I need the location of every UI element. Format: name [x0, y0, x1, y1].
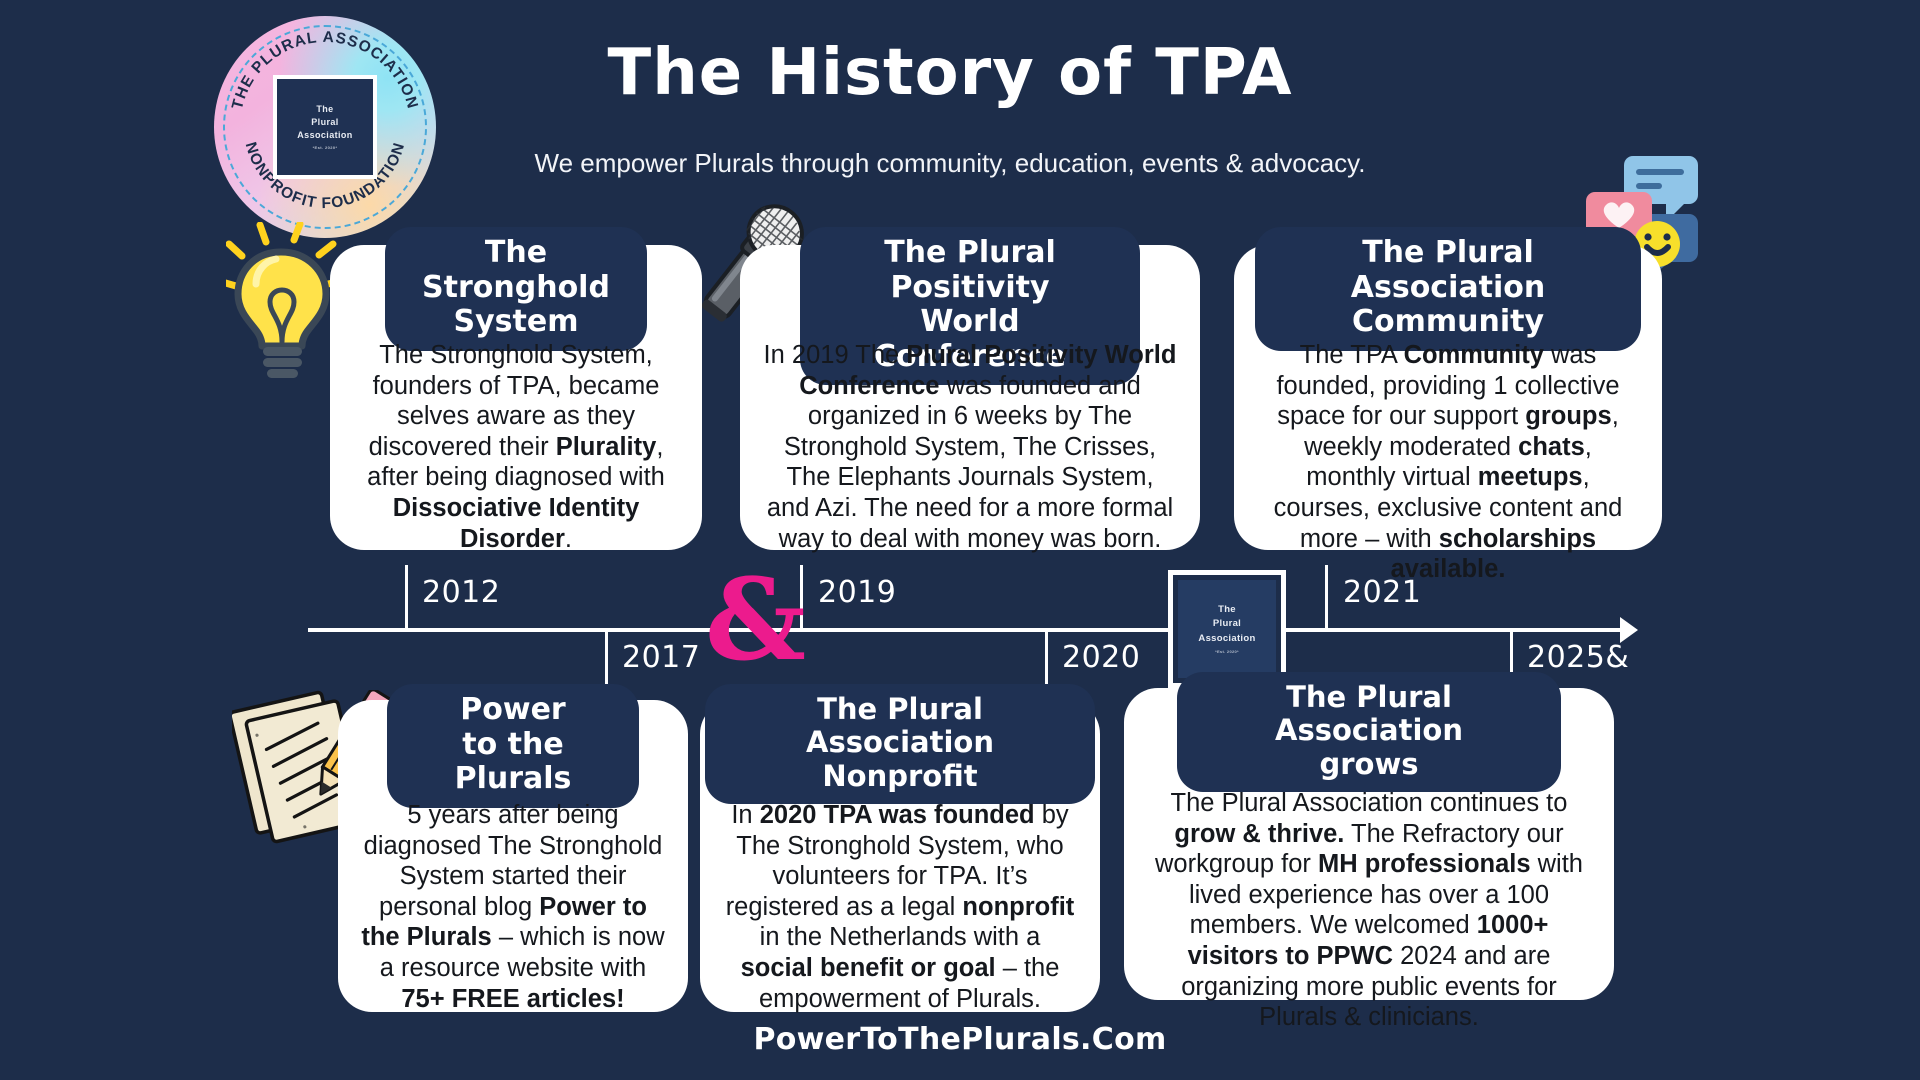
footer-website: PowerToThePlurals.Com [0, 1022, 1920, 1057]
page-title: The History of TPA [470, 36, 1430, 110]
timeline-year-2025: 2025& [1527, 640, 1629, 675]
tpa-logo-badge: THE PLURAL ASSOCIATION NONPROFIT FOUNDAT… [214, 16, 436, 238]
timeline-logo-line-1: The [1218, 603, 1236, 617]
card-heading: The Plural Association Community [1255, 227, 1641, 351]
card-heading: The Plural Association Nonprofit [705, 684, 1095, 804]
card-stronghold-system: The Stronghold System The Stronghold Sys… [330, 245, 702, 550]
timeline-axis [308, 628, 1628, 632]
card-body: The Plural Association continues to grow… [1124, 788, 1614, 1033]
card-body: In 2020 TPA was founded by The Stronghol… [700, 800, 1100, 1014]
timeline-year-2020: 2020 [1062, 640, 1140, 675]
logo-est: *Est. 2020* [313, 145, 338, 150]
card-body: In 2019 The Plural Positivity World Conf… [740, 340, 1200, 554]
card-body: 5 years after being diagnosed The Strong… [338, 800, 688, 1014]
card-body: The Stronghold System, founders of TPA, … [330, 340, 702, 554]
timeline-logo-line-3: Association [1198, 632, 1255, 646]
timeline-logo-line-2: Plural [1213, 617, 1241, 631]
card-heading: The Plural Association grows [1177, 672, 1561, 792]
card-tpa-community: The Plural Association Community The TPA… [1234, 245, 1662, 550]
card-tpa-nonprofit: The Plural Association Nonprofit In 2020… [700, 700, 1100, 1012]
card-ppwc: The Plural Positivity World Conference I… [740, 245, 1200, 550]
logo-line-2: Plural [311, 117, 338, 128]
timeline-tick-2012 [405, 565, 408, 631]
infographic-canvas: THE PLURAL ASSOCIATION NONPROFIT FOUNDAT… [0, 0, 1920, 1080]
logo-line-3: Association [297, 130, 352, 141]
timeline-tick-2021 [1325, 565, 1328, 631]
timeline-year-2021: 2021 [1343, 575, 1421, 610]
card-heading: The Stronghold System [385, 227, 647, 351]
timeline-logo-marker: The Plural Association *Est. 2020* [1168, 570, 1286, 688]
timeline-year-2017: 2017 [622, 640, 700, 675]
logo-inner-frame: The Plural Association *Est. 2020* [273, 75, 377, 179]
card-heading: Power to the Plurals [387, 684, 639, 808]
card-tpa-grows: The Plural Association grows The Plural … [1124, 688, 1614, 1000]
logo-line-1: The [316, 104, 333, 115]
card-power-to-the-plurals: Power to the Plurals 5 years after being… [338, 700, 688, 1012]
timeline-year-2012: 2012 [422, 575, 500, 610]
ampersand-accent: & [705, 565, 806, 677]
timeline-logo-est: *Est. 2020* [1215, 649, 1239, 655]
card-body: The TPA Community was founded, providing… [1234, 340, 1662, 585]
page-subtitle: We empower Plurals through community, ed… [420, 148, 1480, 179]
timeline-year-2019: 2019 [818, 575, 896, 610]
